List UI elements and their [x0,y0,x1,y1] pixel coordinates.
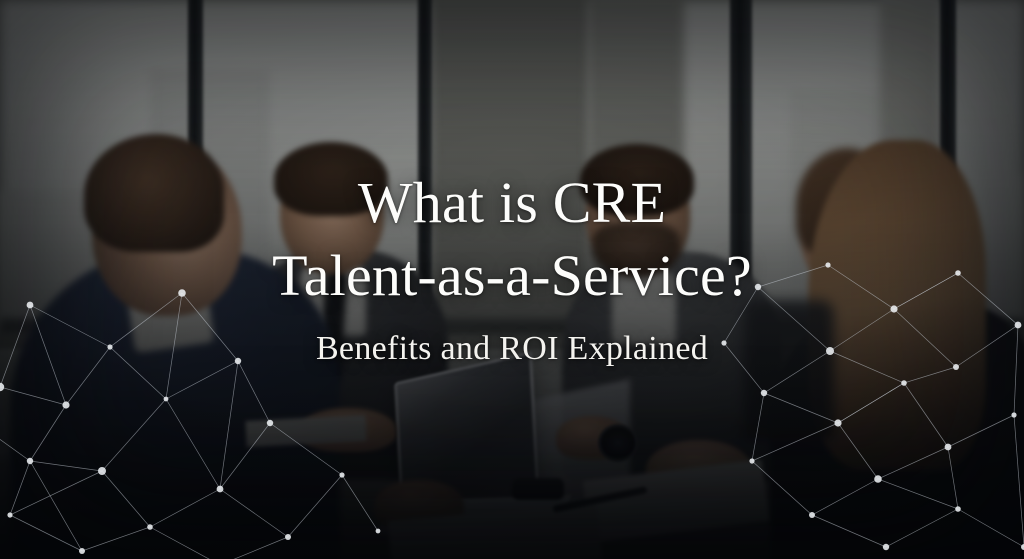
article-hero-banner: What is CRE Talent-as-a-Service? Benefit… [0,0,1024,559]
wristwatch [598,424,638,462]
hero-text-block: What is CRE Talent-as-a-Service? Benefit… [0,166,1024,370]
hero-title-line-1: What is CRE [0,166,1024,239]
smartphone [512,478,564,500]
hero-subtitle: Benefits and ROI Explained [0,328,1024,370]
hero-title-line-2: Talent-as-a-Service? [0,239,1024,312]
